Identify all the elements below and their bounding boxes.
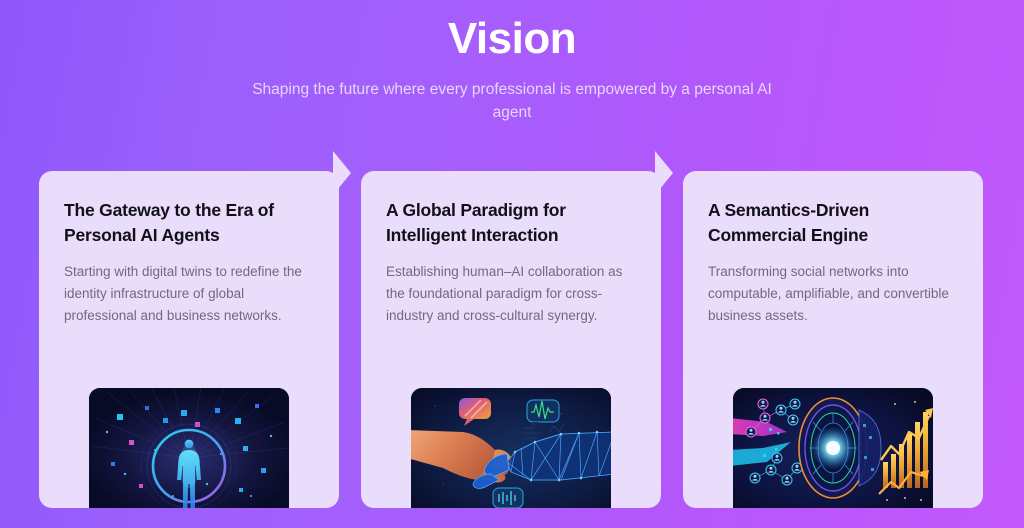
card-title: The Gateway to the Era of Personal AI Ag…	[64, 198, 314, 248]
vision-card-gateway[interactable]: The Gateway to the Era of Personal AI Ag…	[39, 171, 339, 508]
vision-card-paradigm[interactable]: A Global Paradigm for Intelligent Intera…	[361, 171, 661, 508]
handshake-svg	[411, 388, 611, 508]
vision-header: Vision Shaping the future where every pr…	[0, 0, 1024, 124]
card-title: A Global Paradigm for Intelligent Intera…	[386, 198, 636, 248]
card-description: Starting with digital twins to redefine …	[64, 261, 314, 327]
page-subtitle: Shaping the future where every professio…	[252, 78, 772, 124]
card-title: A Semantics-Driven Commercial Engine	[708, 198, 958, 248]
semantic-engine-illustration	[733, 388, 933, 508]
card-description: Establishing human–AI collaboration as t…	[386, 261, 636, 327]
card-description: Transforming social networks into comput…	[708, 261, 958, 327]
digital-twin-svg	[89, 388, 289, 508]
vision-cards-row: The Gateway to the Era of Personal AI Ag…	[39, 171, 985, 508]
vision-card-engine[interactable]: A Semantics-Driven Commercial Engine Tra…	[683, 171, 983, 508]
engine-svg	[733, 388, 933, 508]
page-title: Vision	[0, 8, 1024, 70]
human-ai-handshake-illustration	[411, 388, 611, 508]
chat-bubble-audio	[493, 488, 523, 508]
digital-twin-illustration	[89, 388, 289, 508]
